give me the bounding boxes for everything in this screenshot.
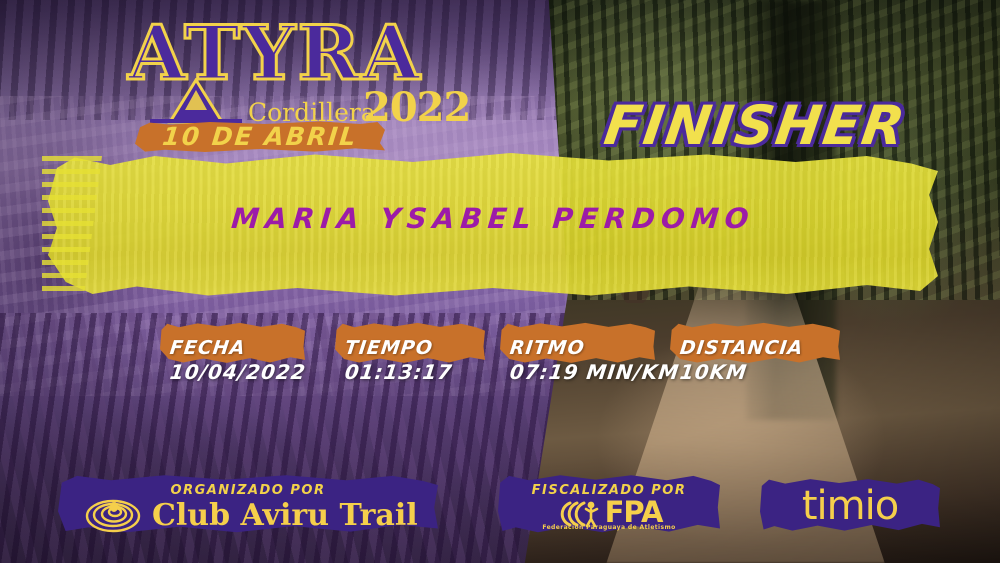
stat-value: 01:13:17 (344, 360, 454, 384)
sponsor-timing: timio (760, 478, 940, 534)
sponsor-sanctioner: FISCALIZADO POR FPA Federación Paraguaya… (498, 474, 720, 536)
stat-distancia: DISTANCIA 10KM (670, 322, 840, 384)
mountain-icon (144, 78, 248, 124)
event-date-text: 10 DE ABRIL (133, 120, 386, 153)
stat-value: 07:19 MIN/KM (509, 360, 681, 384)
sponsor-organizer: ORGANIZADO POR Club Aviru Trail (58, 474, 438, 536)
organizer-name: Club Aviru Trail (152, 498, 418, 533)
athlete-name: MARIA YSABEL PERDOMO (47, 202, 940, 235)
fpa-full-name: Federación Paraguaya de Atletismo (498, 524, 720, 531)
finisher-label: FINISHER (601, 94, 911, 157)
stat-label: FECHA (169, 337, 247, 359)
event-date-badge: 10 DE ABRIL (135, 120, 385, 153)
stat-value: 10KM (679, 360, 749, 384)
stat-label: RITMO (509, 337, 586, 359)
stat-fecha: FECHA 10/04/2022 (160, 322, 305, 384)
stat-label: TIEMPO (344, 337, 435, 359)
finisher-certificate: ATYRA Cordillera 2022 10 DE ABRIL FINISH… (0, 0, 1000, 563)
stat-value: 10/04/2022 (169, 360, 308, 384)
timio-wordmark: timio (760, 478, 940, 534)
athlete-name-band: MARIA YSABEL PERDOMO (48, 150, 938, 300)
fpa-lockup: FPA (498, 498, 720, 527)
nest-spiral-icon (84, 497, 142, 533)
organizer-lockup: Club Aviru Trail (84, 496, 424, 534)
stat-tiempo: TIEMPO 01:13:17 (335, 322, 485, 384)
event-logo: ATYRA Cordillera 2022 10 DE ABRIL (120, 12, 400, 152)
stat-ritmo: RITMO 07:19 MIN/KM (500, 322, 655, 384)
stats-row: FECHA 10/04/2022 TIEMPO 01:13:17 RITMO 0… (160, 322, 840, 388)
stat-label: DISTANCIA (679, 337, 805, 359)
fpa-acronym: FPA (605, 498, 663, 527)
fpa-runner-icon (556, 499, 602, 527)
